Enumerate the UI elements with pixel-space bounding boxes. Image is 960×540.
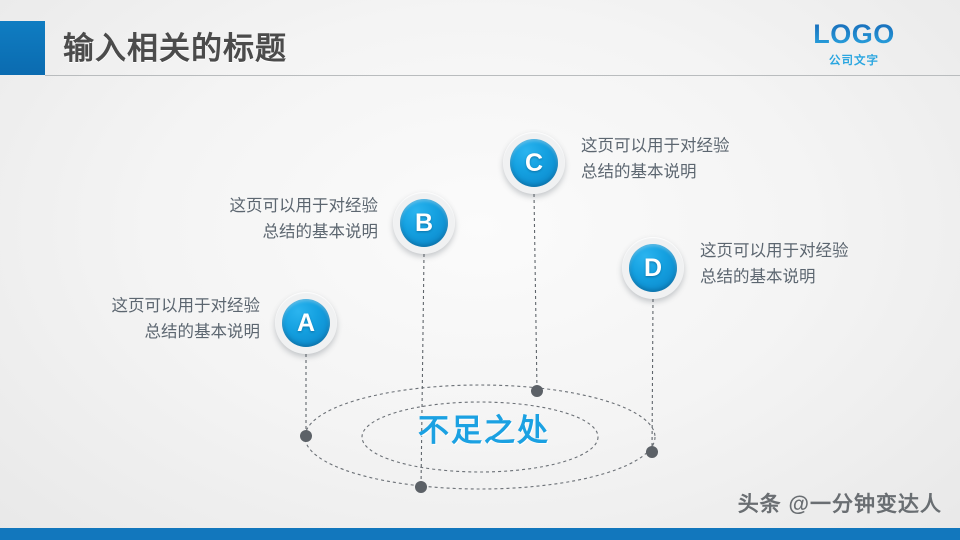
caption-a-line2: 总结的基本说明: [45, 319, 260, 345]
logo-text: LOGO: [784, 21, 924, 48]
orbit-dot-c: [531, 385, 543, 397]
logo-subtitle: 公司文字: [784, 52, 924, 68]
node-a[interactable]: A: [275, 292, 337, 354]
node-b-disc: B: [400, 199, 448, 247]
orbit-dot-b: [415, 481, 427, 493]
connector-line-b: [421, 254, 424, 487]
node-b-letter: B: [415, 211, 433, 236]
orbit-dot-a: [300, 430, 312, 442]
caption-a: 这页可以用于对经验 总结的基本说明: [45, 293, 260, 345]
node-c-letter: C: [525, 151, 543, 176]
diagram-stage: 不足之处 A 这页可以用于对经验 总结的基本说明 B 这页可以用于对经验 总结的…: [0, 82, 960, 522]
caption-b-line2: 总结的基本说明: [163, 219, 378, 245]
header-divider: [45, 75, 960, 76]
orbit-dot-d: [646, 446, 658, 458]
caption-c-line2: 总结的基本说明: [581, 159, 811, 185]
connector-line-c: [534, 194, 537, 391]
logo: LOGO 公司文字: [784, 21, 924, 68]
caption-c-line1: 这页可以用于对经验: [581, 133, 811, 159]
node-a-letter: A: [297, 311, 315, 336]
node-d-letter: D: [644, 256, 662, 281]
caption-a-line1: 这页可以用于对经验: [45, 293, 260, 319]
page-title: 输入相关的标题: [63, 23, 287, 68]
caption-c: 这页可以用于对经验 总结的基本说明: [581, 133, 811, 185]
caption-d: 这页可以用于对经验 总结的基本说明: [700, 238, 930, 290]
caption-b: 这页可以用于对经验 总结的基本说明: [163, 193, 378, 245]
caption-d-line2: 总结的基本说明: [700, 264, 930, 290]
center-label: 不足之处: [418, 405, 550, 450]
watermark-text: 头条 @一分钟变达人: [738, 488, 942, 518]
node-d-disc: D: [629, 244, 677, 292]
slide-canvas: 输入相关的标题 LOGO 公司文字 不足之处 A: [0, 0, 960, 540]
node-d[interactable]: D: [622, 237, 684, 299]
node-a-disc: A: [282, 299, 330, 347]
caption-d-line1: 这页可以用于对经验: [700, 238, 930, 264]
node-b[interactable]: B: [393, 192, 455, 254]
caption-b-line1: 这页可以用于对经验: [163, 193, 378, 219]
node-c-disc: C: [510, 139, 558, 187]
header-accent-block: [0, 21, 45, 75]
footer-bar: [0, 528, 960, 540]
node-c[interactable]: C: [503, 132, 565, 194]
